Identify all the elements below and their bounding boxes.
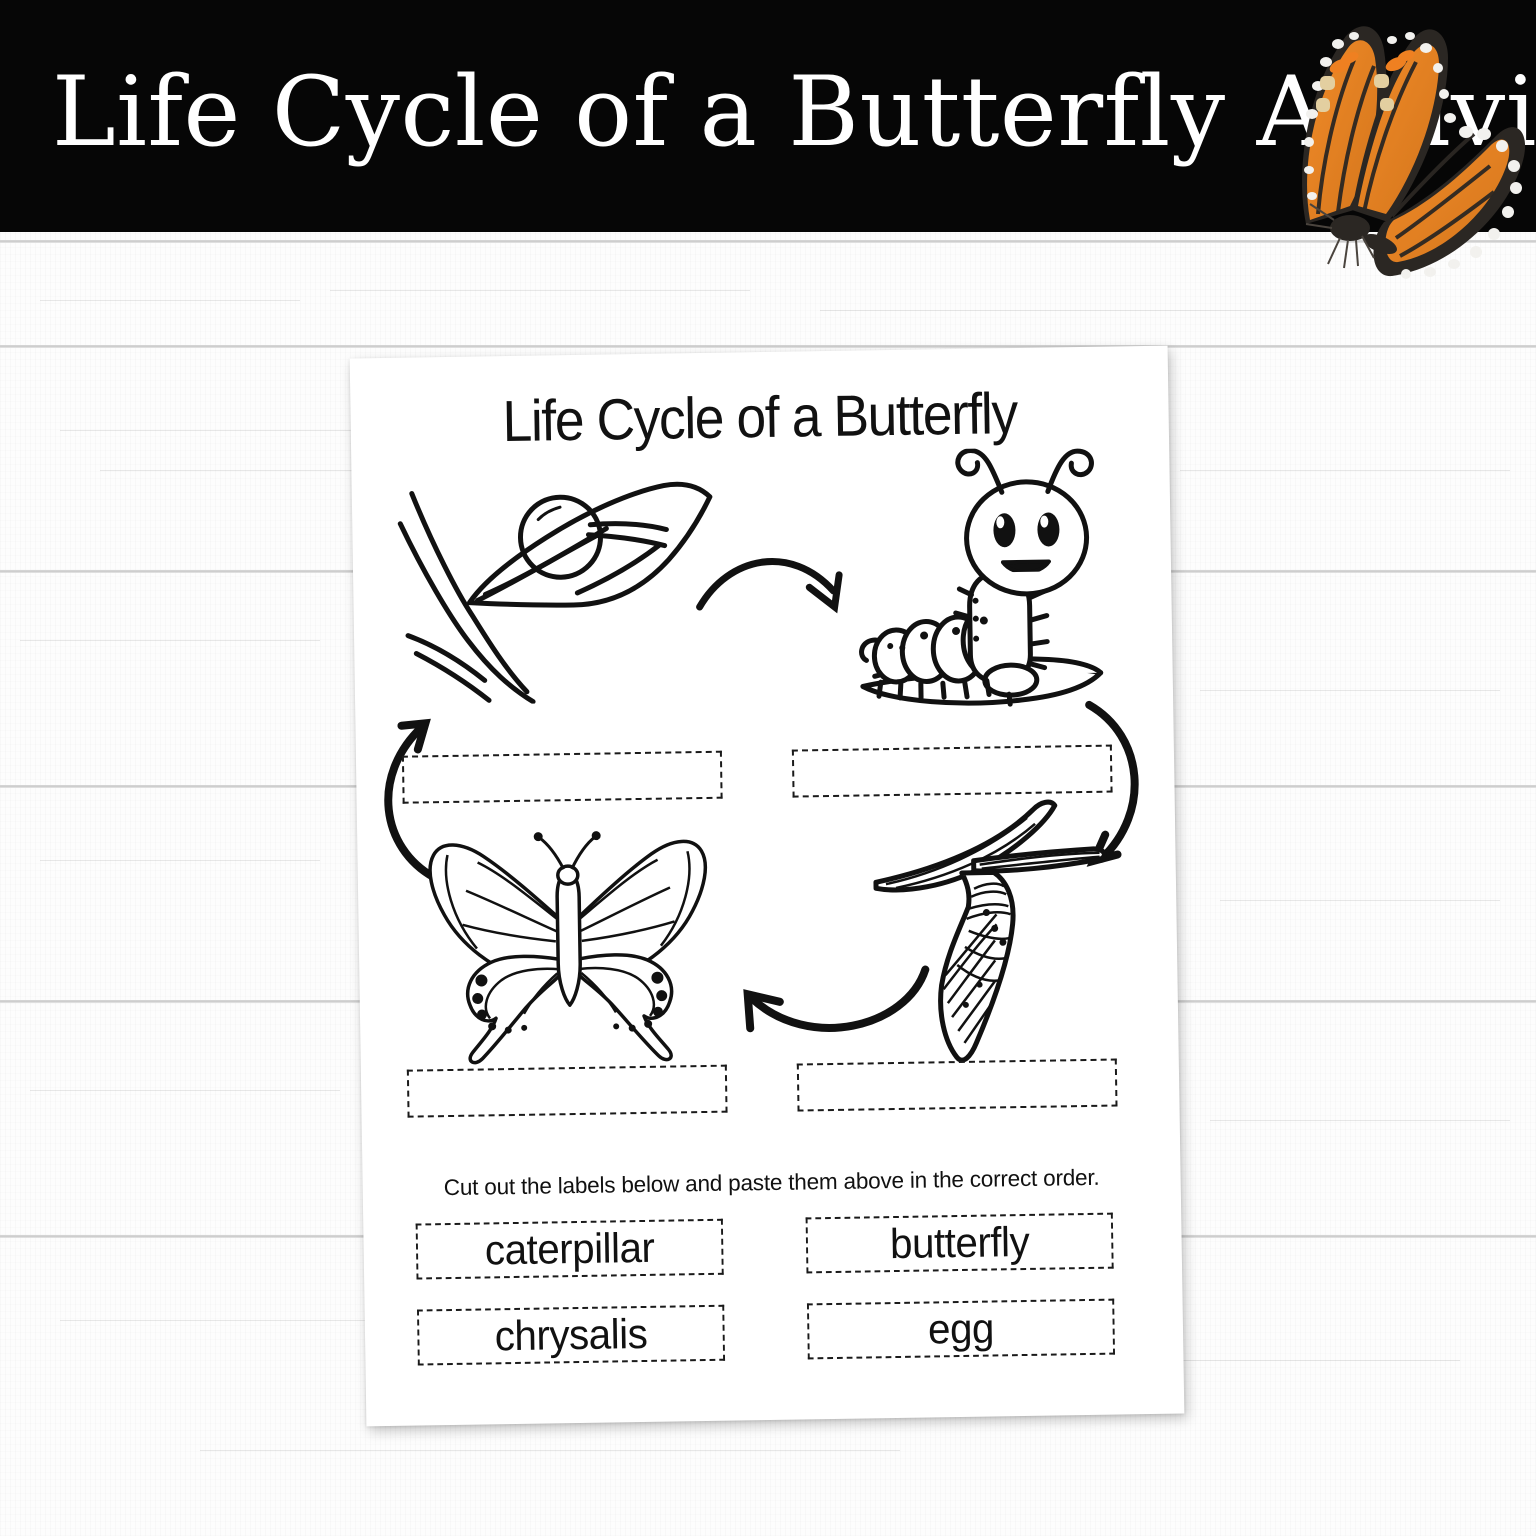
wood-grain <box>1200 690 1500 691</box>
monarch-butterfly-icon <box>1288 14 1536 290</box>
wood-grain <box>330 290 750 291</box>
wood-grain <box>1220 900 1500 901</box>
caterpillar-on-leaf-icon <box>849 446 1163 713</box>
worksheet-title: Life Cycle of a Butterfly <box>383 380 1136 456</box>
wood-grain <box>30 1090 340 1091</box>
cut-label-butterfly[interactable]: butterfly <box>806 1213 1114 1274</box>
wood-grain <box>40 300 300 301</box>
wood-grain <box>40 860 320 861</box>
instruction-text: Cut out the labels below and paste them … <box>363 1164 1181 1203</box>
cut-label-chrysalis[interactable]: chrysalis <box>417 1305 725 1366</box>
arrow-chrysalis-to-butterfly <box>727 957 949 1070</box>
wood-grain <box>1210 1120 1510 1121</box>
answer-box-bottom-left[interactable] <box>407 1065 728 1118</box>
cut-label-text: caterpillar <box>485 1224 655 1275</box>
worksheet-page: Life Cycle of a Butterfly <box>350 346 1185 1427</box>
header-banner: Life Cycle of a Butterfly Activity <box>0 0 1536 232</box>
wood-grain <box>200 1450 900 1451</box>
egg-on-leaf-icon <box>392 471 726 706</box>
plank-divider-line <box>0 345 1536 348</box>
cut-label-text: egg <box>928 1304 995 1353</box>
wood-grain <box>820 310 1340 311</box>
answer-box-bottom-right[interactable] <box>797 1059 1118 1112</box>
arrow-egg-to-caterpillar <box>692 528 874 641</box>
answer-box-top-left[interactable] <box>402 751 723 804</box>
cut-label-text: butterfly <box>890 1218 1030 1268</box>
butterfly-line-art-icon <box>417 811 721 1066</box>
cut-label-egg[interactable]: egg <box>807 1299 1115 1360</box>
cut-label-text: chrysalis <box>494 1310 647 1360</box>
wood-grain <box>20 640 320 641</box>
page-title: Life Cycle of a Butterfly Activity <box>52 52 1302 172</box>
wood-grain <box>1180 470 1510 471</box>
cut-label-caterpillar[interactable]: caterpillar <box>416 1219 724 1280</box>
